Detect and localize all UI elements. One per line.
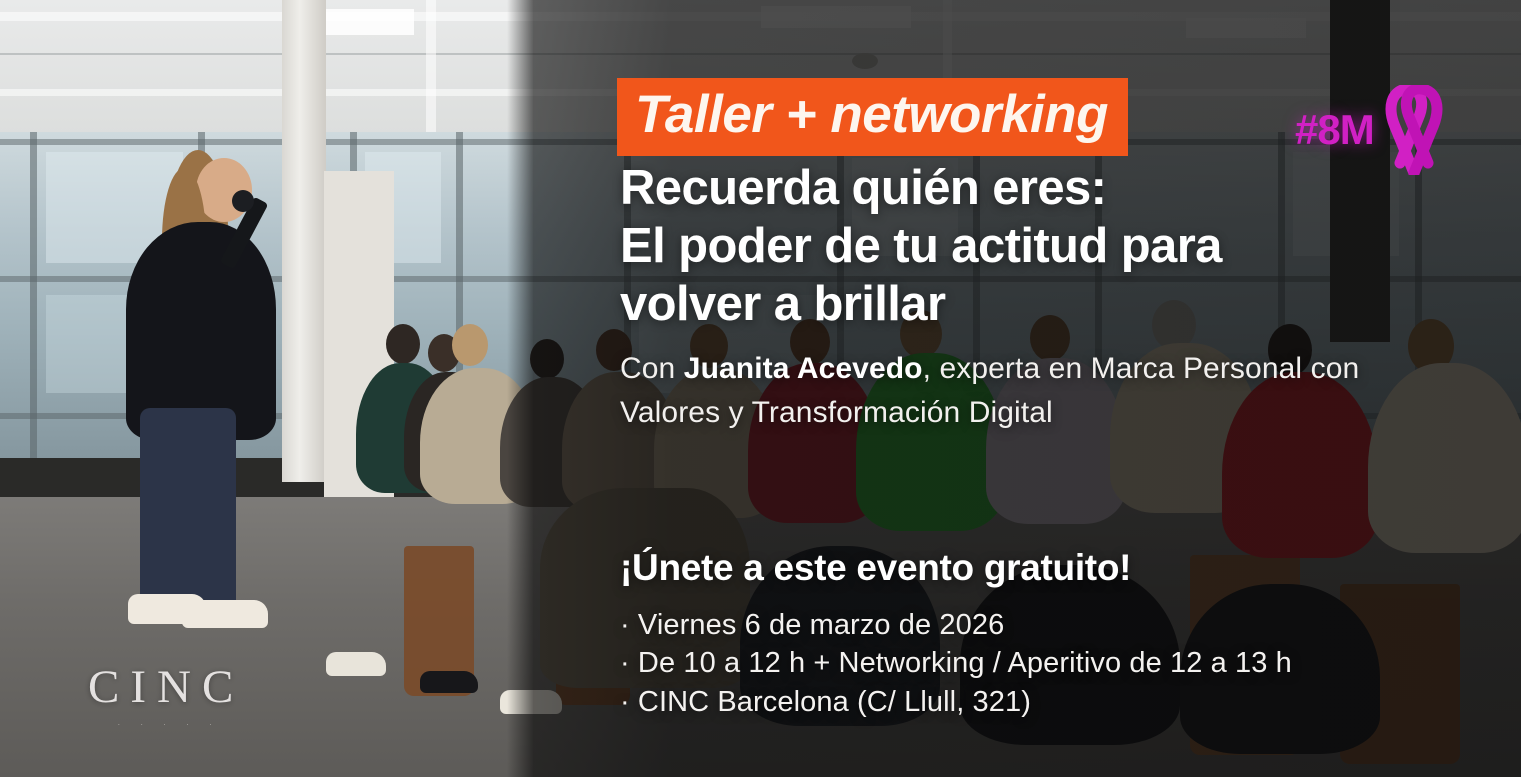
overlay-gradient-edge bbox=[507, 0, 533, 777]
detail-date: · Viernes 6 de marzo de 2026 bbox=[620, 606, 1400, 644]
detail-schedule: · De 10 a 12 h + Networking / Aperitivo … bbox=[620, 644, 1400, 682]
page-title: Recuerda quién eres: El poder de tu acti… bbox=[620, 160, 1350, 333]
speaker-name: Juanita Acevedo bbox=[684, 352, 923, 385]
cinc-logo: CINC · · · · · bbox=[88, 664, 244, 729]
headline-line-1: Recuerda quién eres: bbox=[620, 160, 1350, 218]
cinc-logo-wordmark: CINC bbox=[88, 664, 244, 711]
headline-line-2: El poder de tu actitud para bbox=[620, 218, 1350, 276]
event-poster: Taller + networking Recuerda quién eres:… bbox=[0, 0, 1521, 777]
speaker-subtitle: Con Juanita Acevedo, experta en Marca Pe… bbox=[620, 347, 1380, 435]
subtitle-prefix: Con bbox=[620, 352, 684, 385]
detail-location: · CINC Barcelona (C/ Llull, 321) bbox=[620, 683, 1400, 721]
cinc-logo-tagline: · · · · · bbox=[94, 720, 244, 729]
awareness-ribbon-icon bbox=[1376, 85, 1452, 175]
campaign-mark-8m: #8M bbox=[1295, 85, 1452, 175]
campaign-mark-label: #8M bbox=[1295, 106, 1374, 154]
cta-heading: ¡Únete a este evento gratuito! bbox=[620, 548, 1131, 589]
headline-line-3: volver a brillar bbox=[620, 276, 1350, 334]
event-details-list: · Viernes 6 de marzo de 2026 · De 10 a 1… bbox=[620, 606, 1400, 721]
event-type-badge: Taller + networking bbox=[617, 78, 1128, 156]
